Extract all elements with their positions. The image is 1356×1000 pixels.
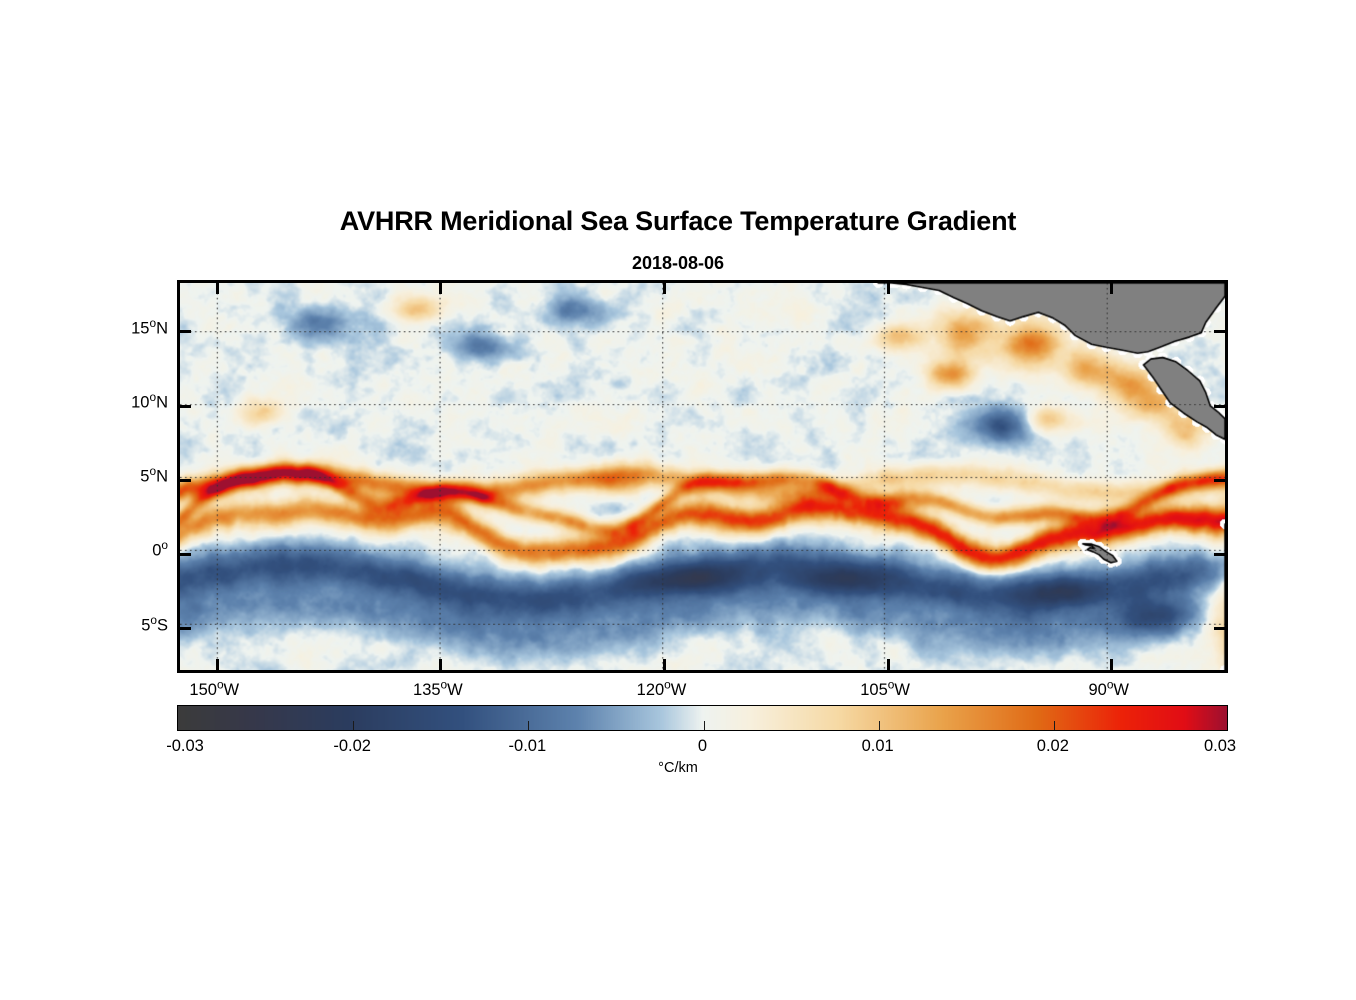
colorbar-tick-label: -0.01 xyxy=(509,737,547,756)
x-tick-mark xyxy=(887,283,890,294)
colorbar-tick-mark xyxy=(879,721,880,730)
colorbar-gradient xyxy=(178,706,1227,730)
y-tick-mark xyxy=(1214,405,1225,408)
y-tick-label: 5oN xyxy=(60,468,168,487)
x-tick-mark xyxy=(216,659,219,670)
y-tick-mark xyxy=(1214,330,1225,333)
x-tick-label: 105oW xyxy=(860,681,910,700)
y-tick-mark xyxy=(1214,553,1225,556)
y-tick-mark xyxy=(180,553,191,556)
colorbar-tick-label: -0.03 xyxy=(166,737,204,756)
x-tick-mark xyxy=(1110,659,1113,670)
x-tick-mark xyxy=(663,283,666,294)
y-tick-label: 15oN xyxy=(60,319,168,338)
colorbar-unit-label: °C/km xyxy=(0,760,1356,776)
colorbar-tick-mark xyxy=(353,721,354,730)
x-tick-mark xyxy=(887,659,890,670)
x-tick-mark xyxy=(216,283,219,294)
y-tick-mark xyxy=(180,405,191,408)
x-tick-mark xyxy=(663,659,666,670)
colorbar-tick-mark xyxy=(1054,721,1055,730)
y-tick-mark xyxy=(1214,479,1225,482)
colorbar-tick-mark xyxy=(528,721,529,730)
y-tick-label: 5oS xyxy=(60,616,168,635)
colorbar-tick-label: -0.02 xyxy=(333,737,371,756)
colorbar-tick-label: 0 xyxy=(698,737,707,756)
x-tick-label: 120oW xyxy=(637,681,687,700)
colorbar-tick-label: 0.01 xyxy=(862,737,894,756)
x-tick-mark xyxy=(439,659,442,670)
x-tick-mark xyxy=(1110,283,1113,294)
x-tick-label: 90oW xyxy=(1088,681,1129,700)
colorbar-tick-mark xyxy=(704,721,705,730)
chart-title: AVHRR Meridional Sea Surface Temperature… xyxy=(0,206,1356,237)
colorbar-tick-label: 0.02 xyxy=(1037,737,1069,756)
figure-canvas: AVHRR Meridional Sea Surface Temperature… xyxy=(0,0,1356,1000)
y-tick-mark xyxy=(180,330,191,333)
x-tick-label: 135oW xyxy=(413,681,463,700)
y-tick-mark xyxy=(180,627,191,630)
y-tick-label: 0o xyxy=(60,542,168,561)
x-tick-mark xyxy=(439,283,442,294)
x-tick-label: 150oW xyxy=(189,681,239,700)
y-tick-mark xyxy=(1214,627,1225,630)
chart-subtitle: 2018-08-06 xyxy=(0,253,1356,274)
colorbar xyxy=(177,705,1228,731)
map-axes xyxy=(177,280,1228,673)
sst-gradient-heatmap xyxy=(180,283,1225,670)
y-tick-label: 10oN xyxy=(60,394,168,413)
y-tick-mark xyxy=(180,479,191,482)
colorbar-tick-label: 0.03 xyxy=(1204,737,1236,756)
